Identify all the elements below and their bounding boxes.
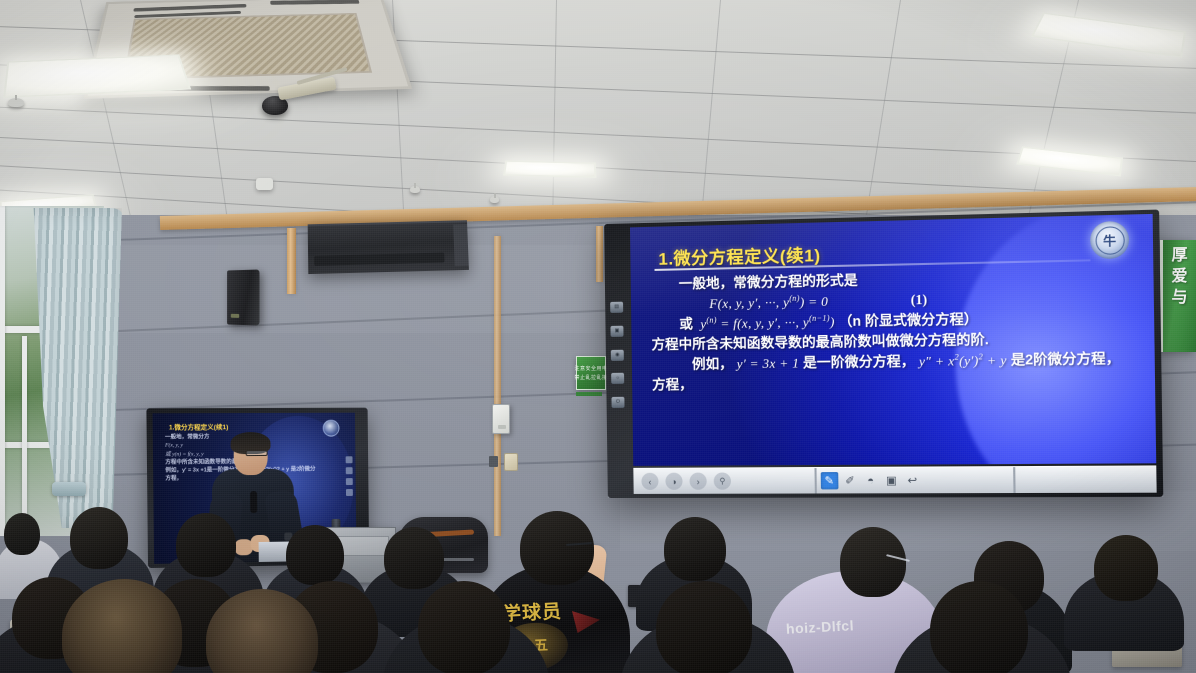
list-item	[70, 507, 128, 569]
safety-sign-line-1: 注意安全用电	[575, 365, 608, 372]
list-item	[418, 581, 510, 673]
list-item	[930, 581, 1028, 673]
banner-char-2: 爱	[1171, 269, 1187, 285]
page-icon[interactable]: ◑	[665, 473, 682, 490]
green-banner: 厚 爱 与	[1160, 240, 1196, 352]
wall-switch[interactable]	[489, 456, 498, 467]
list-item	[176, 513, 236, 577]
led-panel-light	[503, 160, 596, 178]
list-item	[4, 513, 40, 555]
list-item	[656, 581, 752, 673]
eraser-icon[interactable]: ◓	[862, 472, 880, 489]
undo-icon[interactable]: ↩	[903, 472, 921, 490]
monitor-volume-button[interactable]	[346, 478, 353, 485]
wood-strip	[494, 236, 501, 536]
wall-outlet	[504, 453, 518, 471]
sprinkler-head	[8, 98, 24, 107]
toolbar-nav-group[interactable]: ‹ ◑ › ⚲	[633, 468, 816, 494]
lecturer-glasses	[246, 450, 268, 456]
display-menu-button[interactable]: ▤	[610, 302, 623, 313]
list-item	[664, 517, 726, 581]
logo-glyph: 牛	[1095, 226, 1125, 255]
list-item	[840, 527, 906, 597]
panel-side	[453, 224, 469, 266]
display-screen[interactable]: 牛 1.微分方程定义(续1) 一般地，常微分方程的形式是 F(x, y, y′,…	[630, 214, 1156, 466]
list-item	[384, 527, 444, 589]
example-middle: 是一阶微分方程，	[803, 353, 915, 370]
banner-char-3: 与	[1171, 290, 1187, 306]
sign-base-strip	[576, 392, 602, 396]
zoom-icon[interactable]: ⚲	[714, 472, 731, 489]
display-brightness-button[interactable]: ☼	[611, 373, 624, 384]
example-equation-2: y″ + x2(y′)2 + y	[919, 352, 1007, 369]
display-source-button[interactable]: ▣	[610, 325, 623, 336]
window-frame	[0, 206, 5, 536]
main-display[interactable]: ▤ ▣ ◉ ☼ ⏻ 牛 1.微分方程定义(续1) 一般地，常微分方程的形式是 F…	[604, 210, 1163, 498]
led-panel-light	[1016, 146, 1123, 176]
example-tail: 是2阶微分方程，	[1011, 350, 1121, 367]
list-item	[520, 511, 594, 585]
wall-sensor-box	[492, 404, 510, 434]
back-icon[interactable]: ‹	[641, 473, 658, 490]
sprinkler-head	[410, 186, 420, 193]
pencil-icon[interactable]: ✐	[841, 472, 859, 489]
slide-title-small: 1.微分方程定义(续1)	[169, 421, 228, 431]
audience: 学球员 五 hoiz-Dlfcl	[0, 493, 1196, 673]
panel-vent	[314, 253, 444, 266]
wood-strip	[596, 226, 603, 282]
slide-body: 一般地，常微分方程的形式是 F(x, y, y′, ···, y(n)) = 0…	[651, 264, 1145, 395]
safety-sign-green: 注意安全用电 禁止乱拉乱接	[576, 356, 606, 390]
display-side-controls[interactable]: ▤ ▣ ◉ ☼ ⏻	[608, 302, 626, 408]
display-power-button[interactable]: ⏻	[611, 397, 624, 408]
wood-strip	[287, 228, 296, 294]
smoke-detector	[256, 178, 273, 190]
monitor-menu-button[interactable]	[346, 456, 353, 463]
forward-icon[interactable]: ›	[689, 473, 706, 490]
list-item	[286, 525, 344, 585]
equation-general-form: F(x, y, y′, ···, y(n)) = 0	[709, 294, 828, 311]
screen-icon[interactable]: ▣	[882, 472, 900, 489]
display-toolbar[interactable]: ‹ ◑ › ⚲ ✎ ✐ ◓ ▣ ↩	[633, 465, 1156, 494]
slide-eq2-prefix: 或	[679, 316, 693, 331]
black-wall-panel	[308, 220, 469, 274]
toolbar-tools-group[interactable]: ✎ ✐ ◓ ▣ ↩	[816, 467, 1016, 493]
wall-speaker	[227, 270, 259, 326]
list-item	[1094, 535, 1158, 601]
slide-eq2-note: （n 阶显式微分方程）	[838, 311, 978, 329]
led-panel-light	[1031, 13, 1186, 58]
monitor-source-button[interactable]	[346, 467, 353, 474]
banner-char-1: 厚	[1171, 248, 1187, 264]
example-equation-1: y′ = 3x + 1	[737, 355, 800, 371]
sprinkler-head	[490, 196, 499, 203]
toolbar-spacer	[1016, 466, 1157, 493]
equation-explicit-form: y(n) = f(x, y, y′, ···, y(n−1))	[697, 314, 835, 332]
example-label: 例如，	[692, 356, 733, 372]
pen-active-icon[interactable]: ✎	[820, 472, 838, 489]
equation-number: (1)	[911, 292, 928, 308]
display-volume-button[interactable]: ◉	[611, 349, 624, 360]
safety-sign-line-2: 禁止乱拉乱接	[575, 374, 608, 381]
lecture-hall-photo: 注意安全用电 禁止乱拉乱接 厚 爱 与 ▤ ▣ ◉ ☼ ⏻ 牛 1.微分方程定义…	[0, 0, 1196, 673]
